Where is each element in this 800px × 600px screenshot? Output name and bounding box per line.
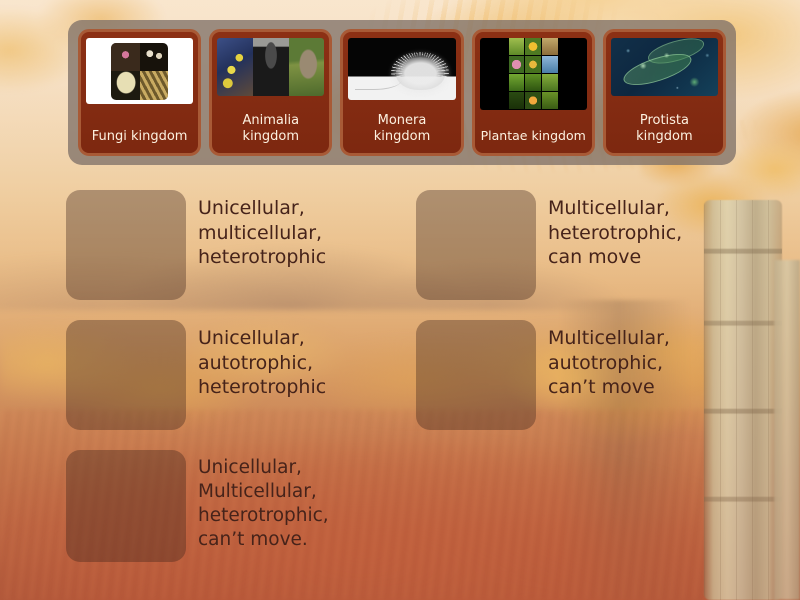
drop-zone-1[interactable]	[66, 190, 186, 300]
card-label-monera: Monera kingdom	[348, 111, 455, 146]
card-monera-kingdom[interactable]: Monera kingdom	[340, 29, 463, 156]
protista-paramecium-image	[611, 38, 718, 96]
fungi-collage-image	[86, 38, 193, 104]
card-label-fungi: Fungi kingdom	[86, 127, 193, 146]
answer-area: Unicellular, multicellular, heterotrophi…	[0, 178, 800, 600]
card-label-animalia: Animalia kingdom	[217, 111, 324, 146]
drop-zone-3[interactable]	[66, 320, 186, 430]
answer-text-3: Unicellular, autotrophic, heterotrophic	[198, 320, 326, 400]
plant-photos-icon	[509, 38, 558, 110]
card-label-plantae: Plantae kingdom	[480, 127, 587, 146]
plantae-collage-image	[480, 38, 587, 110]
card-animalia-kingdom[interactable]: Animalia kingdom	[209, 29, 332, 156]
vulture-photo-icon	[253, 38, 289, 96]
card-label-protista: Protista kingdom	[611, 111, 718, 146]
drop-zone-4[interactable]	[416, 320, 536, 430]
answer-text-4: Multicellular, autotrophic, can’t move	[548, 320, 670, 400]
game-stage: Fungi kingdom Animalia kingdom Monera ki…	[0, 0, 800, 600]
poison-frog-photo-icon	[217, 38, 253, 96]
card-tray: Fungi kingdom Animalia kingdom Monera ki…	[68, 20, 736, 165]
bacterium-photo-icon	[396, 57, 445, 90]
answer-row-3: Unicellular, autotrophic, heterotrophic	[66, 320, 326, 430]
answer-row-4: Multicellular, autotrophic, can’t move	[416, 320, 670, 430]
monera-bacterium-image	[348, 38, 455, 100]
microbe-particles-icon	[611, 38, 718, 96]
animalia-collage-image	[217, 38, 324, 96]
drop-zone-5[interactable]	[66, 450, 186, 562]
answer-text-2: Multicellular, heterotrophic, can move	[548, 190, 682, 270]
card-fungi-kingdom[interactable]: Fungi kingdom	[78, 29, 201, 156]
answer-row-1: Unicellular, multicellular, heterotrophi…	[66, 190, 326, 300]
card-protista-kingdom[interactable]: Protista kingdom	[603, 29, 726, 156]
answer-text-1: Unicellular, multicellular, heterotrophi…	[198, 190, 326, 270]
squirrel-photo-icon	[289, 38, 325, 96]
answer-text-5: Unicellular, Multicellular, heterotrophi…	[198, 450, 329, 552]
mushroom-photos-icon	[111, 43, 168, 100]
drop-zone-2[interactable]	[416, 190, 536, 300]
answer-row-5: Unicellular, Multicellular, heterotrophi…	[66, 450, 329, 562]
answer-row-2: Multicellular, heterotrophic, can move	[416, 190, 682, 300]
card-plantae-kingdom[interactable]: Plantae kingdom	[472, 29, 595, 156]
